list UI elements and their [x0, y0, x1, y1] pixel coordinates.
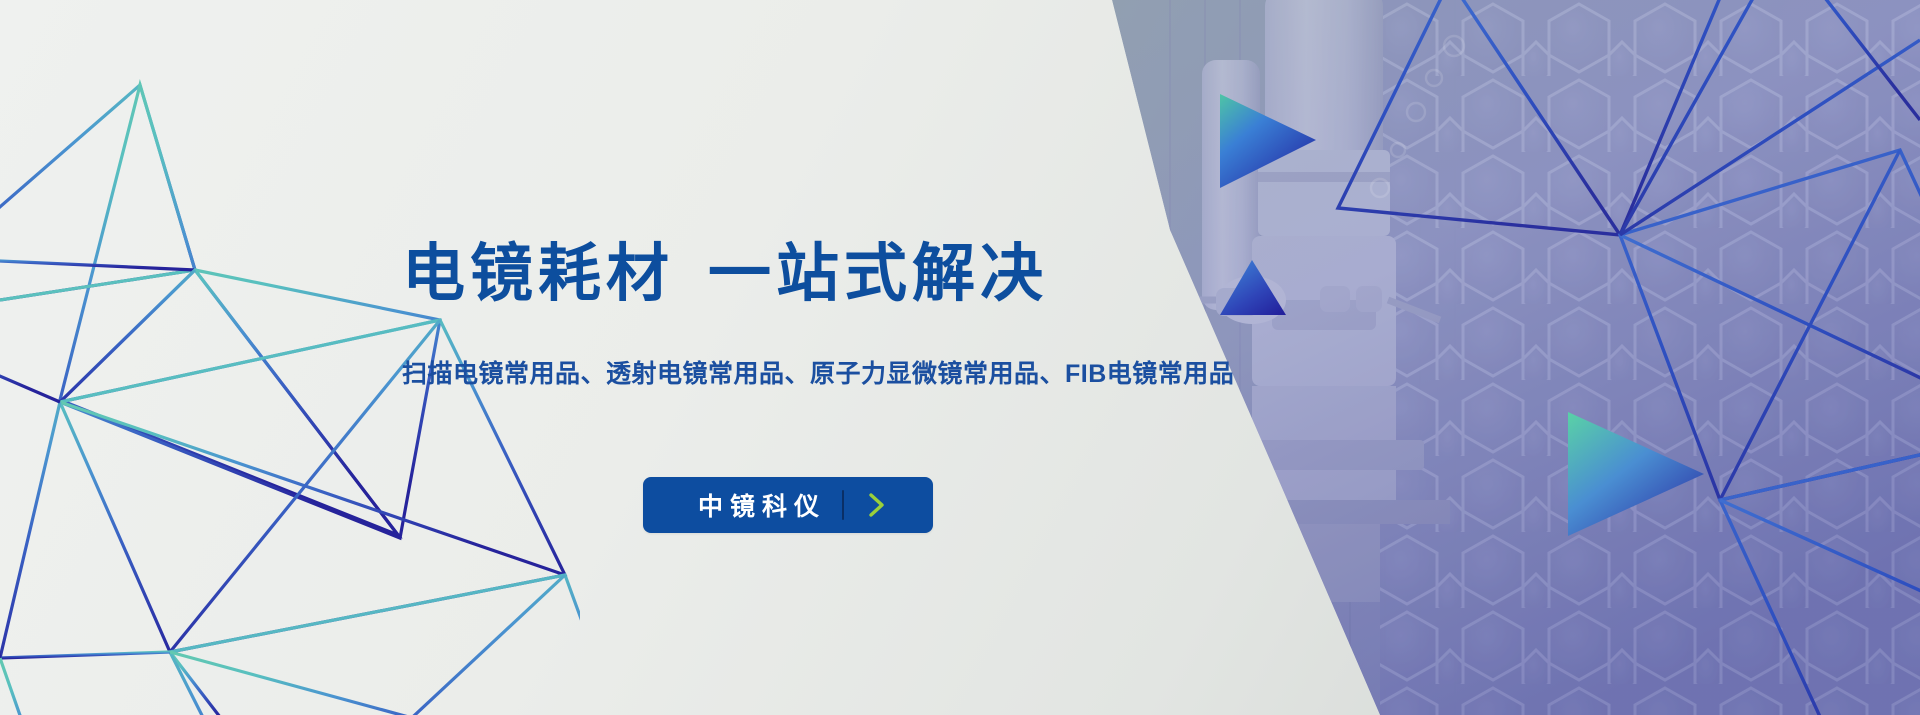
page-subtitle: 扫描电镜常用品、透射电镜常用品、原子力显微镜常用品、FIB电镜常用品: [402, 362, 1322, 387]
cta-label: 中镜科仪: [690, 487, 826, 523]
chevron-right-icon: [866, 490, 886, 520]
cta-separator: [842, 490, 844, 520]
triangle-right-lower: [1562, 392, 1710, 540]
cta-button[interactable]: 中镜科仪: [643, 477, 933, 533]
hero-banner: 电镜耗材一站式解决 扫描电镜常用品、透射电镜常用品、原子力显微镜常用品、FIB电…: [0, 0, 1920, 715]
page-title: 电镜耗材一站式解决: [402, 243, 1182, 306]
headline-part-1: 电镜耗材: [402, 239, 674, 309]
hero-content: 电镜耗材一站式解决 扫描电镜常用品、透射电镜常用品、原子力显微镜常用品、FIB电…: [0, 0, 1300, 715]
headline-part-2: 一站式解决: [708, 239, 1048, 309]
